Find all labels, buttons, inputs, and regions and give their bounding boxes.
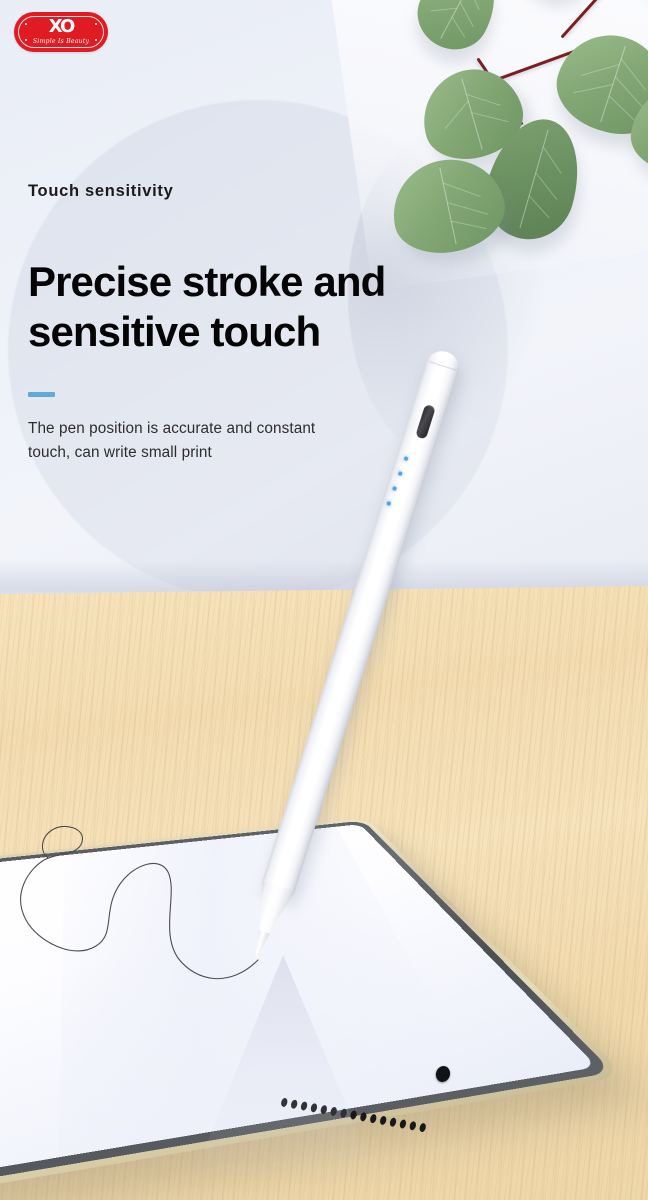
speaker-hole [359,1112,367,1122]
pen-tip [250,930,270,960]
hero-copy: Touch sensitivity Precise stroke and sen… [28,182,448,465]
leaf-vein [443,183,481,198]
product-feature-page: Touch sensitivity Precise stroke and sen… [0,0,648,1200]
leaf-vein [574,84,613,93]
leaf-vein [609,95,637,122]
leaf-vein [468,0,479,10]
leaf-vein [451,220,486,228]
page-title: Precise stroke and sensitive touch [28,201,448,356]
leaf-far-right-top [632,0,648,15]
speaker-hole [399,1119,407,1129]
hero-backdrop: Touch sensitivity Precise stroke and sen… [0,0,648,600]
leaf-vein [447,202,488,215]
logo-tagline: Simple Is Beauty [14,39,108,45]
leaf-vein [543,146,562,173]
leaf-vein [445,101,469,129]
brand-logo: XO Simple Is Beauty [14,12,108,52]
leaf-top-right [509,0,622,8]
speaker-hole [419,1122,427,1132]
leaf-vein [535,172,557,199]
speaker-hole [369,1113,377,1123]
leaf-vein [581,64,620,76]
leaf-vein [529,196,550,219]
speaker-hole [379,1115,387,1125]
speaker-hole [389,1117,397,1127]
leaf-vein [452,17,466,38]
leaf-vein [460,2,474,27]
description-text: The pen position is accurate and constan… [28,397,448,464]
leaf-vein [431,7,457,11]
eyebrow-label: Touch sensitivity [28,182,448,201]
leaf-top-left [406,0,511,62]
leaf-vein [466,94,501,106]
leaf-vein [472,112,509,122]
leaf-stem-upper [560,0,609,39]
logo-wordmark: XO [14,18,108,36]
speaker-hole [409,1121,417,1131]
